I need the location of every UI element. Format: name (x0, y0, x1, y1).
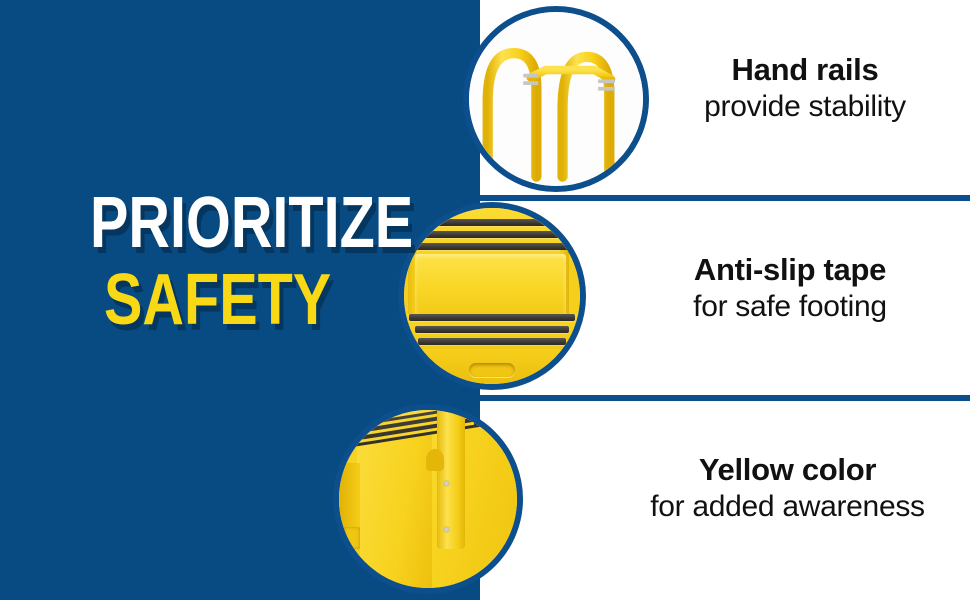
feature-text-hand-rails: Hand rails provide stability (650, 52, 960, 125)
tape-strip (413, 231, 575, 238)
hand-rails-illustration (469, 12, 643, 186)
carry-handle-slot (469, 363, 515, 377)
platform-face (415, 254, 566, 317)
feature-subtitle: provide stability (650, 89, 960, 125)
platform-illustration (404, 208, 580, 384)
feature-title: Hand rails (650, 52, 960, 89)
feature-title: Anti-slip tape (620, 252, 960, 289)
hand-rails-image (469, 12, 643, 186)
anti-slip-tape-photo (398, 202, 586, 390)
hand-rails-photo (463, 6, 649, 192)
row-divider-2 (480, 395, 970, 401)
yellow-color-image (339, 410, 517, 588)
tape-strip (418, 338, 566, 345)
post-notch (426, 449, 444, 470)
vertical-post (437, 410, 465, 549)
tape-strip (418, 219, 569, 226)
feature-subtitle: for safe footing (620, 289, 960, 325)
feature-text-yellow-color: Yellow color for added awareness (610, 452, 965, 525)
step-riser (357, 435, 432, 588)
side-tab (344, 527, 360, 548)
anti-slip-tape-image (404, 208, 580, 384)
page-title: PRIORITIZE SAFETY (90, 192, 420, 333)
feature-subtitle: for added awareness (610, 489, 965, 525)
left-shadow (339, 463, 360, 588)
safety-feature-banner: PRIORITIZE SAFETY (0, 0, 970, 600)
tape-strip (409, 243, 576, 250)
headline-line-prioritize: PRIORITIZE (90, 192, 354, 255)
tape-strip (409, 314, 574, 321)
feature-text-anti-slip-tape: Anti-slip tape for safe footing (620, 252, 960, 325)
headline-line-safety: SAFETY (104, 269, 357, 332)
yellow-body-illustration (339, 410, 517, 588)
row-divider-1 (480, 195, 970, 201)
feature-title: Yellow color (610, 452, 965, 489)
yellow-color-photo (333, 404, 523, 594)
tape-strip (415, 326, 570, 333)
rails-photo-background (469, 12, 643, 186)
